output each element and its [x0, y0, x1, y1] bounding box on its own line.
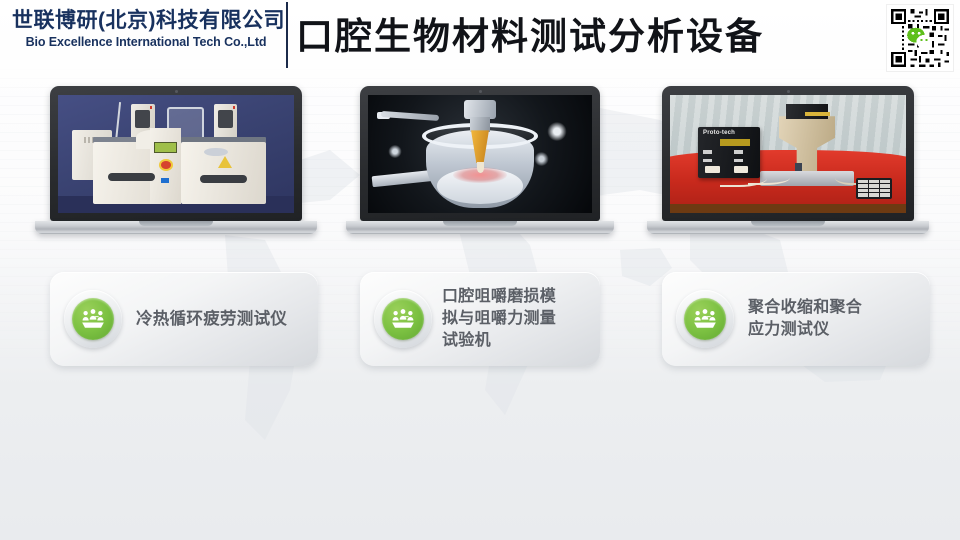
webcam-dot-1	[175, 90, 178, 93]
laptop-base-3	[647, 221, 929, 234]
proto-tech-brand-text: Proto-tech	[703, 130, 755, 136]
laptop-screen-3: Proto-tech	[670, 95, 906, 213]
label-line: 冷热循环疲劳测试仪	[136, 308, 308, 330]
webcam-dot-3	[787, 90, 790, 93]
slide-header: 世联博研(北京)科技有限公司 Bio Excellence Internatio…	[0, 0, 960, 72]
page-title: 口腔生物材料测试分析设备	[296, 14, 764, 60]
proto-tech-photo: Proto-tech	[670, 95, 906, 213]
laptop-screen-1	[58, 95, 294, 213]
laptop-lid-2	[360, 86, 600, 221]
meeting-people-icon	[64, 290, 122, 348]
laptop-mockup-3: Proto-tech	[662, 86, 914, 234]
laptop-lid-1	[50, 86, 302, 221]
label-line: 口腔咀嚼磨损模	[442, 286, 590, 308]
laptop-base-2	[346, 221, 615, 234]
world-map-background	[0, 0, 960, 540]
laptop-base-1	[35, 221, 317, 234]
product-label-text-2: 口腔咀嚼磨损模 拟与咀嚼力测量 试验机	[432, 286, 600, 352]
product-label-row: 冷热循环疲劳测试仪 口腔	[0, 272, 960, 382]
label-line: 试验机	[442, 330, 590, 352]
product-label-text-1: 冷热循环疲劳测试仪	[122, 308, 318, 330]
wechat-qr-code-icon[interactable]	[887, 5, 953, 71]
slide-canvas: 世联博研(北京)科技有限公司 Bio Excellence Internatio…	[0, 0, 960, 540]
webcam-dot-2	[479, 90, 482, 93]
product-label-3[interactable]: 聚合收缩和聚合 应力测试仪	[662, 272, 930, 366]
product-label-2[interactable]: 口腔咀嚼磨损模 拟与咀嚼力测量 试验机	[360, 272, 600, 366]
laptop-mockup-2	[360, 86, 600, 234]
label-line: 应力测试仪	[748, 319, 920, 341]
product-image-row: Proto-tech	[0, 86, 960, 254]
company-name-cn: 世联博研(北京)科技有限公司	[12, 8, 280, 34]
header-divider	[286, 2, 288, 68]
company-name-en: Bio Excellence International Tech Co.,Lt…	[12, 34, 280, 51]
company-brand: 世联博研(北京)科技有限公司 Bio Excellence Internatio…	[12, 8, 280, 51]
laptop-screen-2	[368, 95, 592, 213]
label-line: 聚合收缩和聚合	[748, 297, 920, 319]
product-label-text-3: 聚合收缩和聚合 应力测试仪	[734, 297, 930, 341]
label-line: 拟与咀嚼力测量	[442, 308, 590, 330]
chewing-simulator-photo	[368, 95, 592, 213]
laptop-mockup-1	[50, 86, 302, 234]
laptop-lid-3: Proto-tech	[662, 86, 914, 221]
product-label-1[interactable]: 冷热循环疲劳测试仪	[50, 272, 318, 366]
thermocycler-photo	[58, 95, 294, 213]
meeting-people-icon	[374, 290, 432, 348]
meeting-people-icon	[676, 290, 734, 348]
